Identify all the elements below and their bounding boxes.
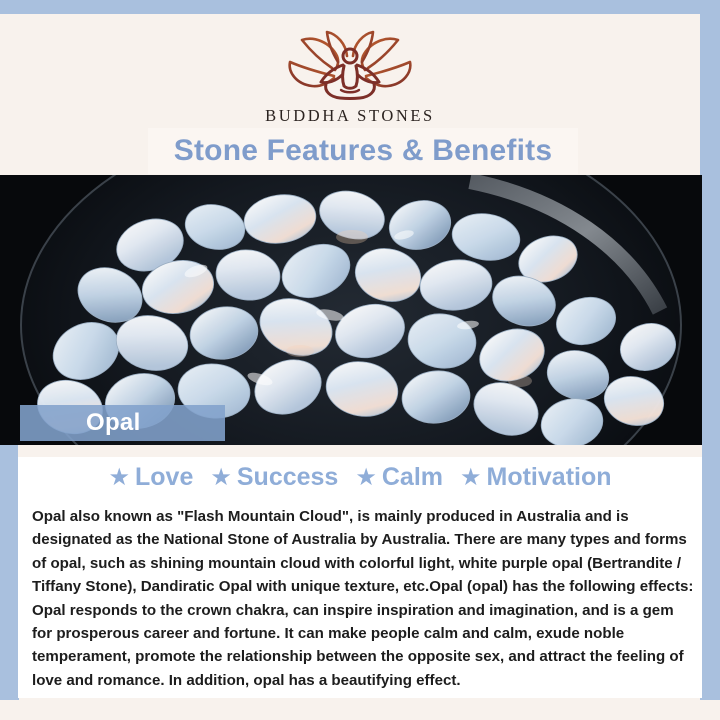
- top-accent-band: [0, 0, 720, 14]
- benefit-label: Motivation: [487, 465, 612, 490]
- benefit-item-success: ★ Success: [210, 465, 338, 490]
- star-icon: ★: [108, 466, 130, 490]
- lotus-meditation-figure-icon: [274, 28, 426, 102]
- star-icon: ★: [460, 466, 482, 490]
- benefit-label: Love: [135, 465, 193, 490]
- stone-features-infographic: BUDDHA STONES Stone Features & Benefits: [0, 0, 720, 720]
- benefit-label: Success: [237, 465, 338, 490]
- title-banner: Stone Features & Benefits: [148, 128, 578, 174]
- benefits-row: ★ Love ★ Success ★ Calm ★ Motivation: [18, 465, 702, 490]
- card-top-band: [18, 445, 702, 457]
- benefit-item-calm: ★ Calm: [355, 465, 443, 490]
- description-text: Opal also known as "Flash Mountain Cloud…: [32, 505, 694, 692]
- stone-name-label: Opal: [20, 405, 225, 441]
- right-accent-panel: [700, 0, 720, 700]
- benefit-item-motivation: ★ Motivation: [460, 465, 612, 490]
- left-accent-strip: [0, 430, 19, 700]
- benefit-label: Calm: [382, 465, 443, 490]
- stone-name-text: Opal: [86, 409, 141, 437]
- benefit-item-love: ★ Love: [108, 465, 193, 490]
- star-icon: ★: [355, 466, 377, 490]
- star-icon: ★: [210, 466, 232, 490]
- brand-logo: BUDDHA STONES: [0, 28, 700, 126]
- description-card: ★ Love ★ Success ★ Calm ★ Motivation Opa…: [18, 445, 702, 698]
- bottom-cream-band: [0, 698, 720, 720]
- page-title: Stone Features & Benefits: [174, 134, 552, 168]
- brand-name: BUDDHA STONES: [265, 106, 435, 126]
